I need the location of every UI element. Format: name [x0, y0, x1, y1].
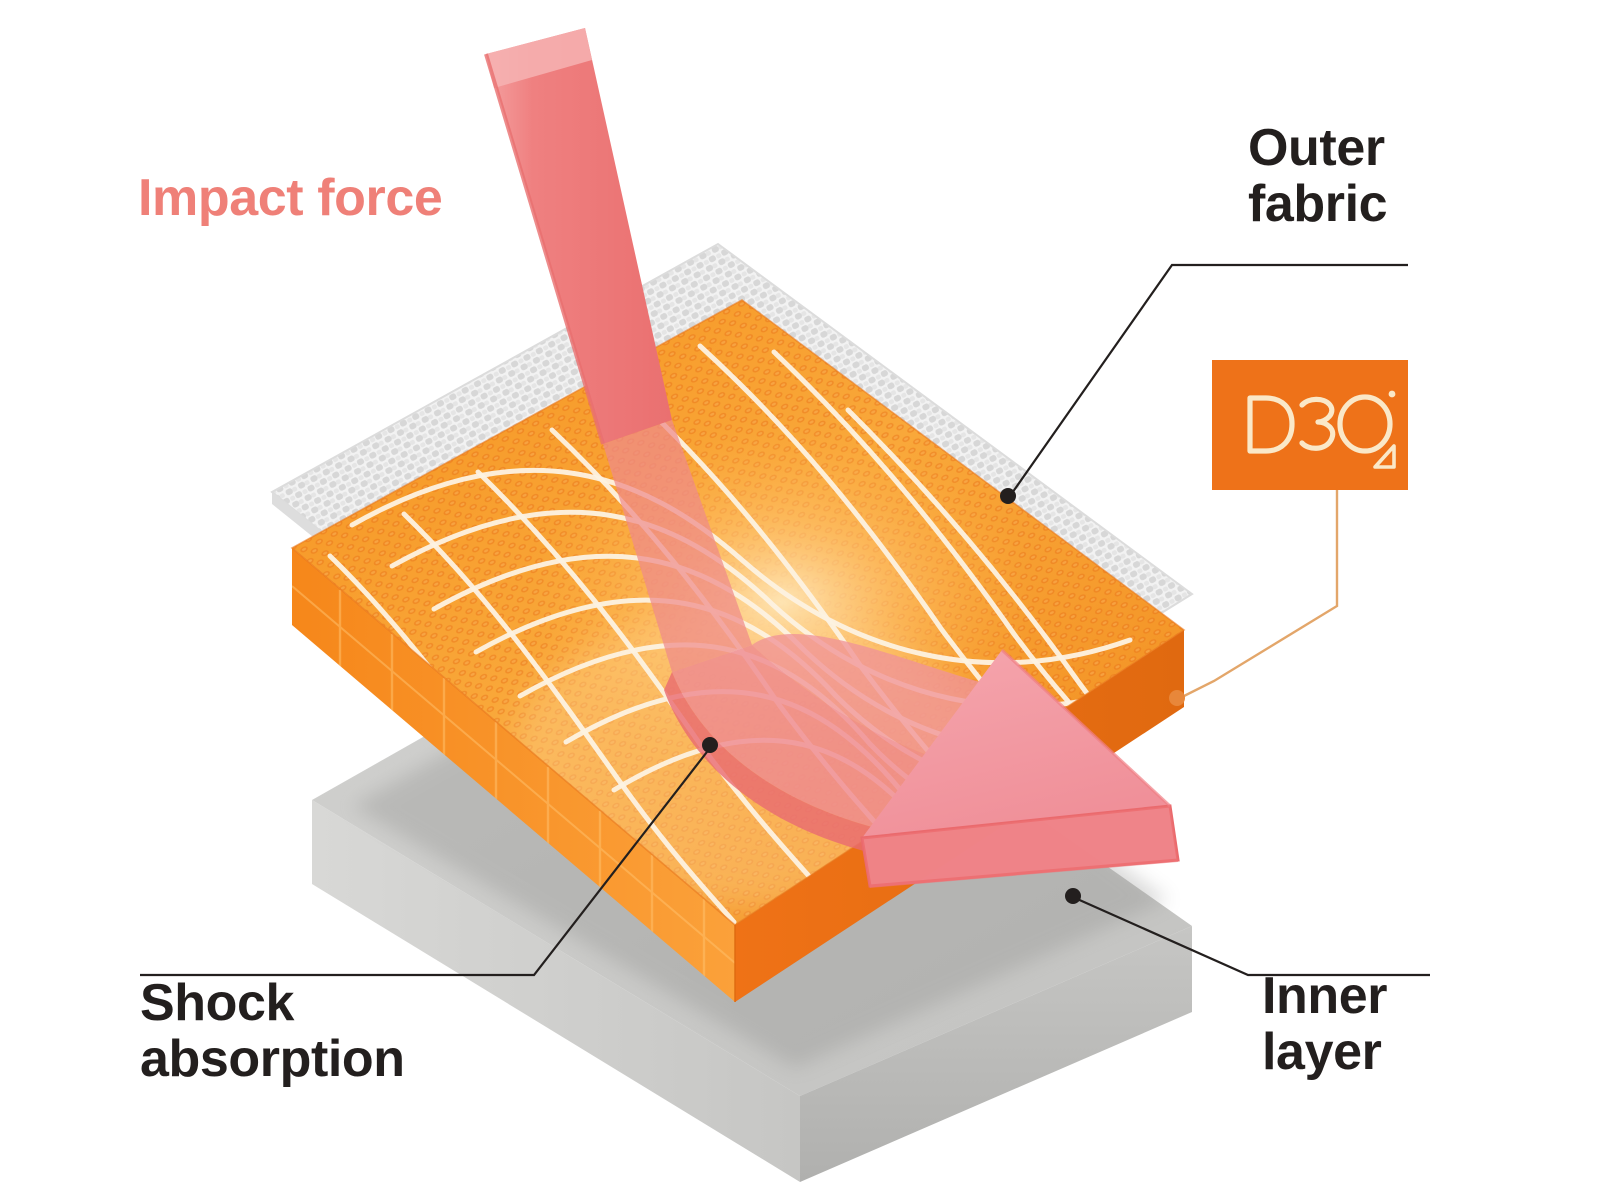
diagram-canvas: Impact force Outer fabric Shock absorpti… — [0, 0, 1600, 1200]
impact-force-label: Impact force — [138, 170, 442, 226]
inner-layer-leader-dot — [1065, 888, 1081, 904]
outer-fabric-label: Outer fabric — [1248, 120, 1387, 232]
d3o-logo — [1212, 360, 1408, 490]
d3o-logo-leader — [1169, 490, 1337, 706]
d3o-logo-leader-dot — [1169, 690, 1185, 706]
shock-absorption-leader-dot — [702, 737, 718, 753]
inner-layer-label: Inner layer — [1262, 968, 1387, 1080]
shock-absorption-label: Shock absorption — [140, 975, 405, 1087]
d3o-logo-mark — [1212, 360, 1408, 490]
outer-fabric-leader-dot — [1000, 488, 1016, 504]
